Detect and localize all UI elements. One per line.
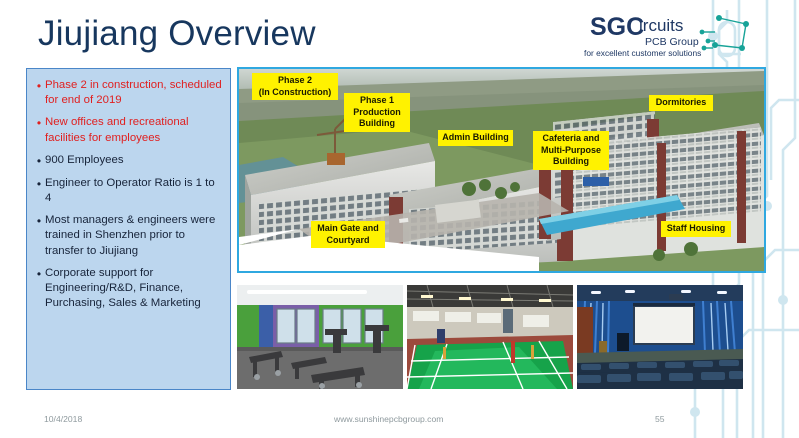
callout-cafeteria: Cafeteria and Multi-Purpose Building xyxy=(533,131,609,170)
bullet-text: Corporate support for Engineering/R&D, F… xyxy=(45,266,223,312)
list-item: • New offices and recreational facilitie… xyxy=(33,115,223,145)
bullet-text: 900 Employees xyxy=(45,153,223,168)
page-title: Jiujiang Overview xyxy=(38,14,316,54)
callout-main-gate: Main Gate and Courtyard xyxy=(311,221,385,248)
bullet-list-panel: • Phase 2 in construction, scheduled for… xyxy=(26,68,231,390)
logo-graphic: SGC ircuits PCB Group for excellent cust… xyxy=(582,8,757,66)
gym-fitness-room-image xyxy=(237,285,403,389)
list-item: • 900 Employees xyxy=(33,153,223,169)
badminton-court-photo xyxy=(407,285,573,389)
bullet-marker: • xyxy=(33,115,45,131)
list-item: • Corporate support for Engineering/R&D,… xyxy=(33,266,223,312)
callout-admin-building: Admin Building xyxy=(438,130,513,146)
company-logo: SGC ircuits PCB Group for excellent cust… xyxy=(582,8,757,66)
logo-group-line: PCB Group xyxy=(645,36,699,48)
logo-brand-suffix: ircuits xyxy=(639,16,683,35)
bullet-text: Phase 2 in construction, scheduled for e… xyxy=(45,78,223,108)
list-item: • Engineer to Operator Ratio is 1 to 4 xyxy=(33,176,223,206)
bullet-marker: • xyxy=(33,176,45,192)
aerial-campus-photo: Phase 2 (In Construction) Phase 1 Produc… xyxy=(237,67,766,273)
bullet-text: Engineer to Operator Ratio is 1 to 4 xyxy=(45,176,223,206)
logo-tagline: for excellent customer solutions xyxy=(584,48,701,58)
list-item: • Most managers & engineers were trained… xyxy=(33,213,223,259)
logo-brand-main: SGC xyxy=(590,13,644,41)
auditorium-theater-photo xyxy=(577,285,743,389)
list-item: • Phase 2 in construction, scheduled for… xyxy=(33,78,223,108)
badminton-court-image xyxy=(407,285,573,389)
callout-phase-2: Phase 2 (In Construction) xyxy=(252,73,338,100)
callout-dormitories: Dormitories xyxy=(649,95,713,111)
callout-phase-1: Phase 1 Production Building xyxy=(344,93,410,132)
auditorium-theater-image xyxy=(577,285,743,389)
bullet-marker: • xyxy=(33,78,45,94)
bullet-marker: • xyxy=(33,153,45,169)
footer-url: www.sunshinepcbgroup.com xyxy=(334,414,443,424)
footer-page-number: 55 xyxy=(655,414,665,424)
callout-staff-housing: Staff Housing xyxy=(661,221,731,237)
bullet-marker: • xyxy=(33,213,45,229)
bullet-text: New offices and recreational facilities … xyxy=(45,115,223,145)
gym-fitness-room-photo xyxy=(237,285,403,389)
slide-canvas: Jiujiang Overview SGC ircuits xyxy=(0,0,799,438)
footer-date: 10/4/2018 xyxy=(44,414,82,424)
bullet-text: Most managers & engineers were trained i… xyxy=(45,213,223,259)
bullet-marker: • xyxy=(33,266,45,282)
